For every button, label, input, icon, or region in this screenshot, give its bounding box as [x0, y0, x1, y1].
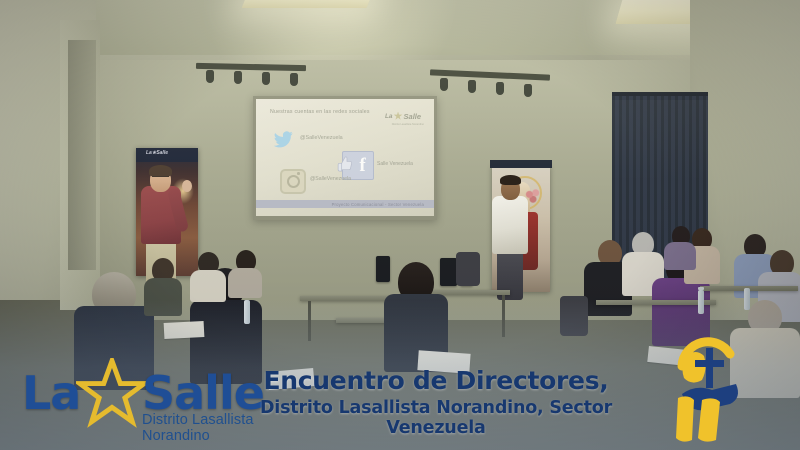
panel-light-icon: [242, 0, 376, 8]
event-title-block: Encuentro de Directores, Distrito Lasall…: [236, 366, 636, 438]
track-spot-icon: [496, 82, 504, 95]
track-spot-icon: [468, 80, 476, 93]
star-icon: [394, 112, 403, 121]
slide-logo-la: La: [385, 113, 393, 120]
event-title: Encuentro de Directores,: [236, 366, 636, 395]
monitor: [440, 258, 457, 286]
track-spot-icon: [524, 84, 532, 97]
track-spot-icon: [262, 72, 270, 85]
track-spot-icon: [234, 71, 242, 84]
lasalle-brand-lockup: La Salle Distrito Lasallista Norandino: [14, 358, 264, 440]
slide-footer-text: Proyecto Comunicacional - Sector Venezue…: [332, 202, 424, 207]
table-leg: [308, 301, 311, 341]
water-bottle: [244, 300, 250, 324]
table: [300, 296, 390, 301]
lasallian-signum-fidei-emblem: [662, 332, 746, 444]
facebook-f-glyph: f: [359, 156, 365, 175]
paper-sheet: [164, 321, 205, 339]
instagram-lens-glyph: [287, 175, 300, 188]
table-leg: [502, 295, 505, 337]
thumbs-up-icon: [336, 154, 353, 174]
chair-back: [560, 296, 588, 336]
facebook-page-name: Salle Venezuela: [377, 161, 413, 167]
rollup-banner-right-header: [490, 160, 552, 168]
event-subtitle: Distrito Lasallista Norandino, Sector Ve…: [236, 398, 636, 438]
twitter-handle: @SalleVenezuela: [300, 135, 343, 141]
slide-logo-salle: Salle: [404, 112, 422, 121]
track-spot-icon: [290, 73, 298, 86]
event-photo: Nuestras cuentas en las redes sociales L…: [0, 0, 800, 450]
slide-logo-subtitle: Distrito Lasallista Norandino: [392, 123, 424, 126]
presenter-left-hand: [182, 180, 192, 192]
instagram-dot-glyph: [297, 172, 300, 175]
slide-footer: Proyecto Comunicacional - Sector Venezue…: [256, 200, 434, 208]
monitor: [376, 256, 390, 282]
banner-logo-text: La★Salle: [146, 150, 168, 156]
brand-subtitle-line2: Norandino: [142, 428, 210, 444]
twitter-icon: [270, 129, 296, 150]
track-spot-icon: [440, 78, 448, 91]
brand-word-la: La: [22, 366, 80, 420]
water-bottle: [698, 290, 704, 314]
doorway: [68, 40, 96, 270]
presentation-slide: Nuestras cuentas en las redes sociales L…: [256, 99, 434, 216]
presenter-right-hair: [500, 175, 521, 185]
instagram-handle: @SalleVenezuela: [310, 176, 351, 182]
water-bottle: [744, 288, 750, 310]
bottle-cap: [698, 287, 704, 290]
track-spot-icon: [206, 70, 214, 83]
star-icon: [76, 358, 148, 428]
projection-screen: Nuestras cuentas en las redes sociales L…: [256, 99, 434, 216]
eyeglasses-icon: [152, 176, 169, 180]
presenter-right-torso: [492, 196, 528, 254]
chair-back: [456, 252, 480, 286]
